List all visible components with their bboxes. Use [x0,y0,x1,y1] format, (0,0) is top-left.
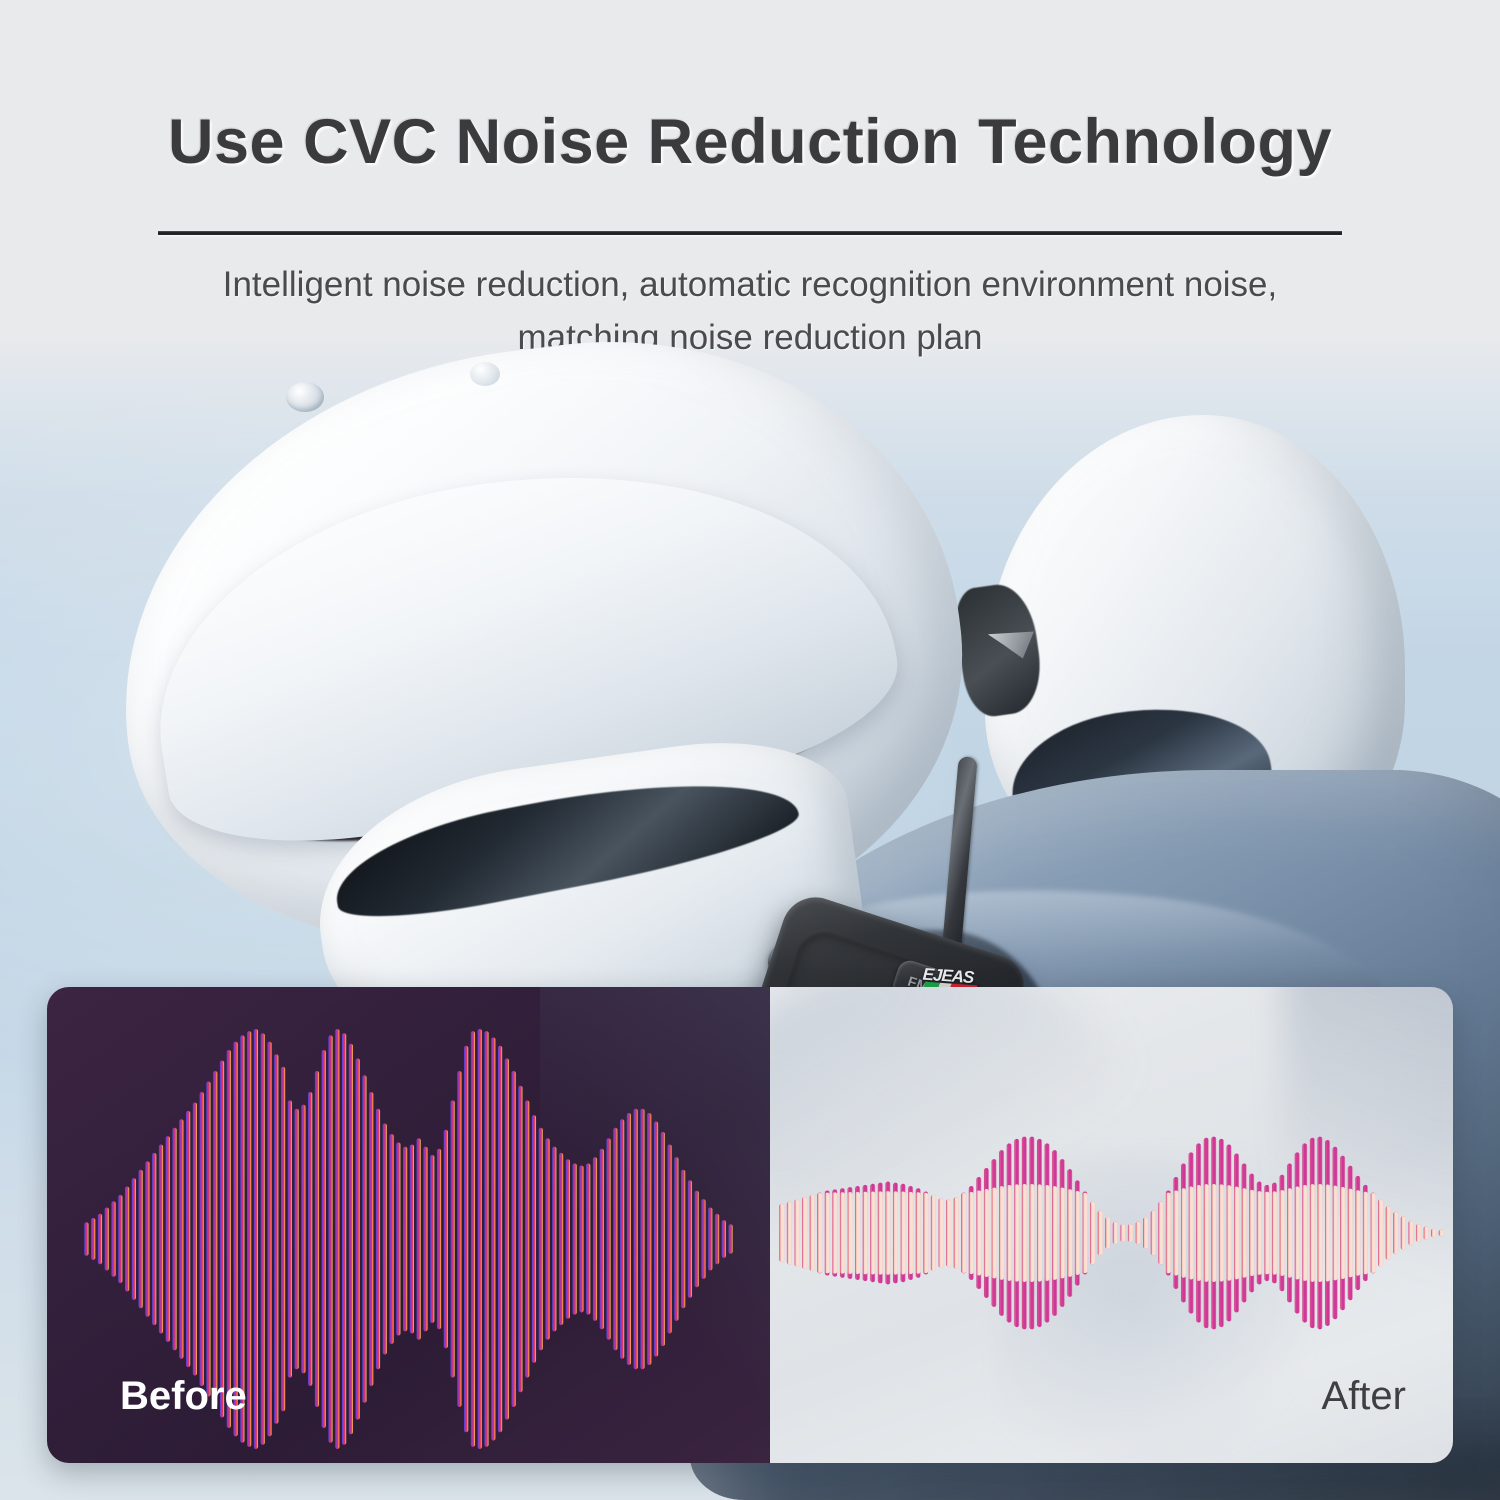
panel-after: After [770,987,1453,1463]
label-after: After [1322,1374,1406,1419]
subtitle-line-1: Intelligent noise reduction, automatic r… [0,258,1500,311]
label-before: Before [120,1374,247,1419]
header: Use CVC Noise Reduction Technology Intel… [0,0,1500,380]
helmet-top-vent [470,362,500,386]
panel-before: Before [47,987,770,1463]
comparison-panels: Before [47,987,1453,1463]
product-infographic: Use CVC Noise Reduction Technology Intel… [0,0,1500,1500]
page-title: Use CVC Noise Reduction Technology [0,106,1500,178]
visor-pivot-knob [286,382,324,412]
title-divider [158,231,1342,235]
